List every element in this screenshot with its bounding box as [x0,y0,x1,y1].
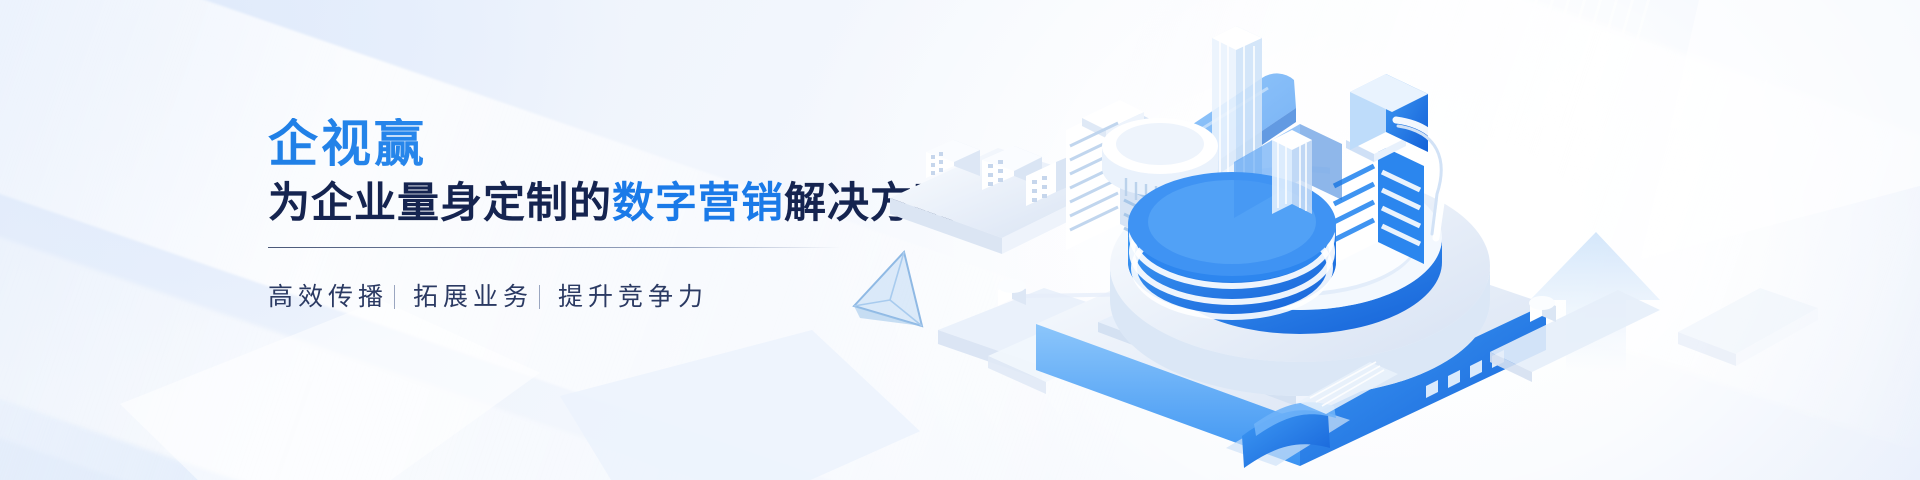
feature-separator-1 [394,285,395,309]
diagonal-band-3 [0,330,935,480]
feature-separator-2 [539,285,540,309]
headline-prefix: 为企业量身定制的 [268,179,612,226]
feature-item-1: 高效传播 [268,277,388,313]
divider-rule [268,247,842,248]
headline-highlight: 数字营销 [612,179,784,226]
hero-banner: 企视赢 为企业量身定制的数字营销解决方案 高效传播 拓展业务 提升竞争力 [0,0,1920,480]
brand-title: 企视赢 [268,118,908,171]
hero-copy: 企视赢 为企业量身定制的数字营销解决方案 高效传播 拓展业务 提升竞争力 [268,118,908,313]
headline: 为企业量身定制的数字营销解决方案 [268,179,908,227]
tower-thin-glass [1272,130,1312,214]
feature-item-3: 提升竞争力 [558,277,708,313]
feature-item-2: 拓展业务 [413,277,533,313]
background-polygon-1 [120,300,540,480]
feature-list: 高效传播 拓展业务 提升竞争力 [268,277,908,313]
hero-illustration [830,0,1920,480]
wireframe-triangle [854,252,922,326]
